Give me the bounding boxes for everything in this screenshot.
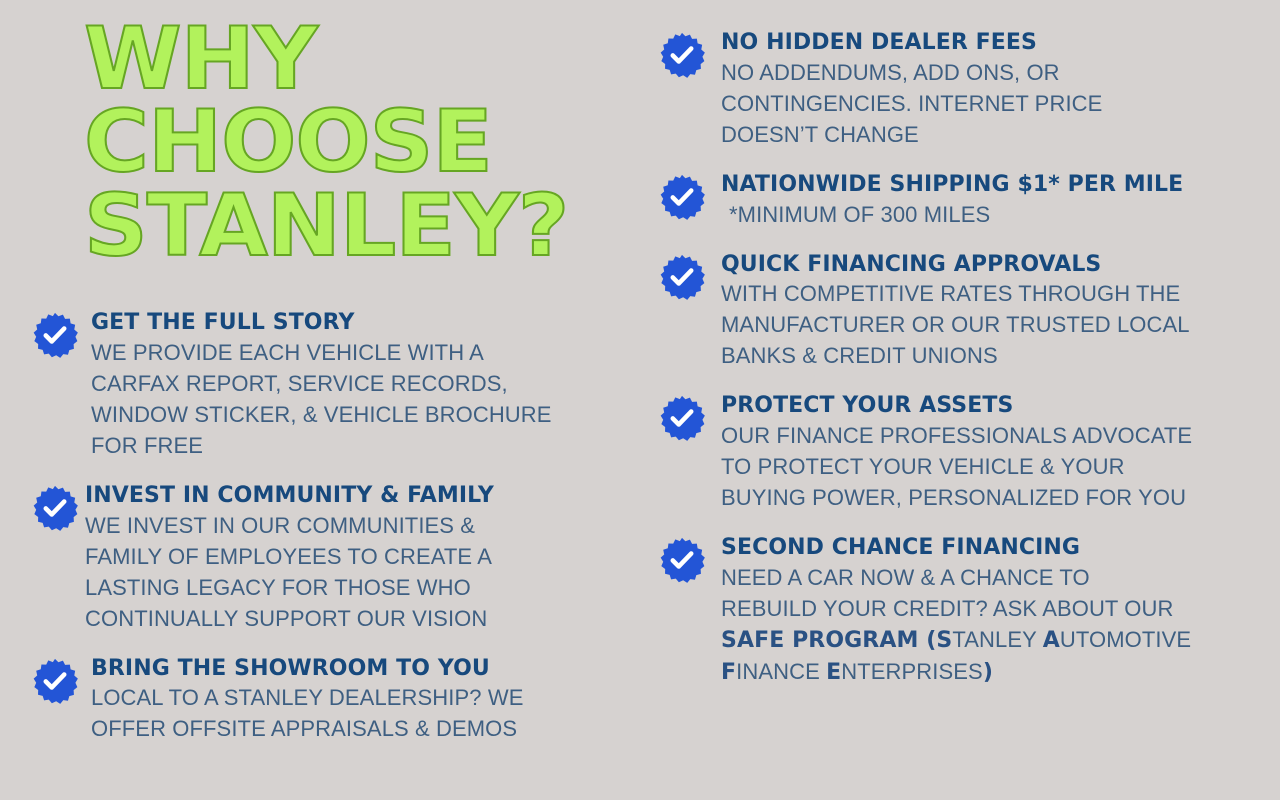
safe-acronym-text-3: INANCE	[736, 659, 826, 684]
feature-body: NEED A CAR NOW & A CHANCE TOREBUILD YOUR…	[721, 562, 1260, 688]
why-choose-stanley-poster: WHY CHOOSE STANLEY? GET THE FULL STORY W…	[0, 0, 1280, 800]
feature-text: QUICK FINANCING APPROVALS WITH COMPETITI…	[721, 252, 1260, 372]
feature-item: INVEST IN COMMUNITY & FAMILY WE INVEST I…	[0, 483, 620, 634]
right-feature-column: NO HIDDEN DEALER FEES NO ADDENDUMS, ADD …	[650, 30, 1260, 710]
safe-acronym-e: E	[826, 660, 841, 685]
feature-body-line-2: REBUILD YOUR CREDIT? ASK ABOUT OUR	[721, 596, 1173, 621]
check-badge-icon	[32, 658, 78, 704]
feature-item: PROTECT YOUR ASSETS OUR FINANCE PROFESSI…	[650, 393, 1260, 513]
feature-heading: SECOND CHANCE FINANCING	[721, 535, 1260, 562]
feature-item: BRING THE SHOWROOM TO YOU LOCAL TO A STA…	[0, 656, 620, 745]
feature-text: GET THE FULL STORY WE PROVIDE EACH VEHIC…	[85, 310, 620, 461]
feature-text: PROTECT YOUR ASSETS OUR FINANCE PROFESSI…	[721, 393, 1260, 513]
safe-acronym-close-paren: )	[983, 660, 993, 685]
safe-acronym-text-2: UTOMOTIVE	[1060, 627, 1191, 652]
feature-heading: INVEST IN COMMUNITY & FAMILY	[85, 483, 620, 510]
feature-text: BRING THE SHOWROOM TO YOU LOCAL TO A STA…	[85, 656, 620, 745]
feature-body: NO ADDENDUMS, ADD ONS, OR CONTINGENCIES.…	[721, 57, 1260, 150]
check-badge-icon	[32, 312, 78, 358]
safe-acronym-a: A	[1043, 628, 1060, 653]
feature-heading: GET THE FULL STORY	[85, 310, 620, 337]
feature-item: SECOND CHANCE FINANCING NEED A CAR NOW &…	[650, 535, 1260, 688]
feature-heading: PROTECT YOUR ASSETS	[721, 393, 1260, 420]
feature-heading: NATIONWIDE SHIPPING $1* PER MILE	[721, 172, 1260, 199]
feature-body: *MINIMUM OF 300 MILES	[721, 199, 1260, 230]
feature-item: NO HIDDEN DEALER FEES NO ADDENDUMS, ADD …	[650, 30, 1260, 150]
feature-text: SECOND CHANCE FINANCING NEED A CAR NOW &…	[721, 535, 1260, 688]
feature-body: WE INVEST IN OUR COMMUNITIES & FAMILY OF…	[85, 510, 620, 634]
feature-heading: BRING THE SHOWROOM TO YOU	[85, 656, 620, 683]
feature-item: QUICK FINANCING APPROVALS WITH COMPETITI…	[650, 252, 1260, 372]
feature-body: WE PROVIDE EACH VEHICLE WITH A CARFAX RE…	[85, 337, 620, 461]
check-badge-icon	[32, 485, 78, 531]
feature-body: WITH COMPETITIVE RATES THROUGH THE MANUF…	[721, 278, 1260, 371]
check-badge-icon	[659, 32, 705, 78]
page-title: WHY CHOOSE STANLEY?	[84, 18, 620, 268]
feature-item: NATIONWIDE SHIPPING $1* PER MILE *MINIMU…	[650, 172, 1260, 230]
feature-body: LOCAL TO A STANLEY DEALERSHIP? WE OFFER …	[85, 682, 620, 744]
left-feature-column: GET THE FULL STORY WE PROVIDE EACH VEHIC…	[0, 310, 620, 766]
feature-heading: NO HIDDEN DEALER FEES	[721, 30, 1260, 57]
check-badge-icon	[659, 395, 705, 441]
safe-acronym-text-1: TANLEY	[952, 627, 1042, 652]
feature-body: OUR FINANCE PROFESSIONALS ADVOCATE TO PR…	[721, 420, 1260, 513]
check-badge-icon	[659, 537, 705, 583]
feature-item: GET THE FULL STORY WE PROVIDE EACH VEHIC…	[0, 310, 620, 461]
safe-acronym-f: F	[721, 660, 736, 685]
safe-acronym-text-4: NTERPRISES	[841, 659, 983, 684]
safe-program-label: SAFE PROGRAM (S	[721, 628, 952, 653]
feature-text: NATIONWIDE SHIPPING $1* PER MILE *MINIMU…	[721, 172, 1260, 230]
check-badge-icon	[659, 174, 705, 220]
feature-text: NO HIDDEN DEALER FEES NO ADDENDUMS, ADD …	[721, 30, 1260, 150]
feature-text: INVEST IN COMMUNITY & FAMILY WE INVEST I…	[85, 483, 620, 634]
feature-body-line-1: NEED A CAR NOW & A CHANCE TO	[721, 565, 1090, 590]
feature-heading: QUICK FINANCING APPROVALS	[721, 252, 1260, 279]
check-badge-icon	[659, 254, 705, 300]
